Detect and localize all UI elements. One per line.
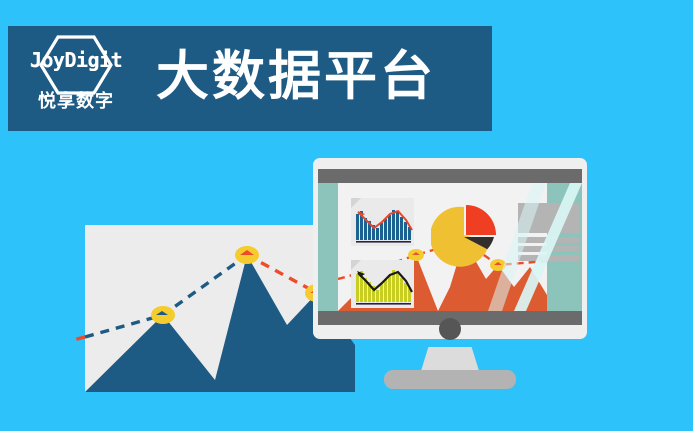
pie-chart[interactable]	[431, 204, 497, 270]
brand-logo: JoyDigit 悦享数字	[22, 33, 130, 125]
placeholder-line	[518, 237, 579, 243]
monitor-bezel-top	[318, 169, 582, 183]
placeholder-block	[518, 203, 579, 233]
logo-subtitle: 悦享数字	[38, 92, 114, 110]
card-bar-chart-blue[interactable]	[351, 198, 414, 246]
card-fold-corner	[351, 198, 361, 208]
trend-line-red-left-stub	[73, 337, 85, 340]
desktop-monitor	[313, 158, 587, 389]
logo-wordmark: JoyDigit	[30, 50, 122, 70]
placeholder-line	[518, 255, 579, 261]
page-title: 大数据平台	[156, 50, 436, 103]
axis-line	[356, 303, 411, 305]
monitor-screen[interactable]	[318, 183, 582, 311]
left-chart-panel	[85, 225, 325, 392]
header-banner: JoyDigit 悦享数字 大数据平台	[8, 26, 492, 131]
placeholder-line	[518, 246, 579, 252]
axis-line	[356, 241, 411, 243]
pie-slice-b[interactable]	[466, 205, 496, 235]
poster-canvas: JoyDigit 悦享数字 大数据平台	[0, 0, 693, 431]
bar-series	[356, 270, 411, 302]
card-fold-corner	[351, 260, 361, 270]
monitor-base	[384, 370, 516, 389]
card-bar-chart-yellow[interactable]	[351, 260, 414, 308]
data-node-marker[interactable]	[235, 246, 259, 264]
data-node-marker[interactable]	[151, 306, 175, 324]
power-indicator-icon	[439, 318, 461, 340]
bar-series	[356, 210, 411, 240]
screen-strip-left	[318, 183, 338, 311]
